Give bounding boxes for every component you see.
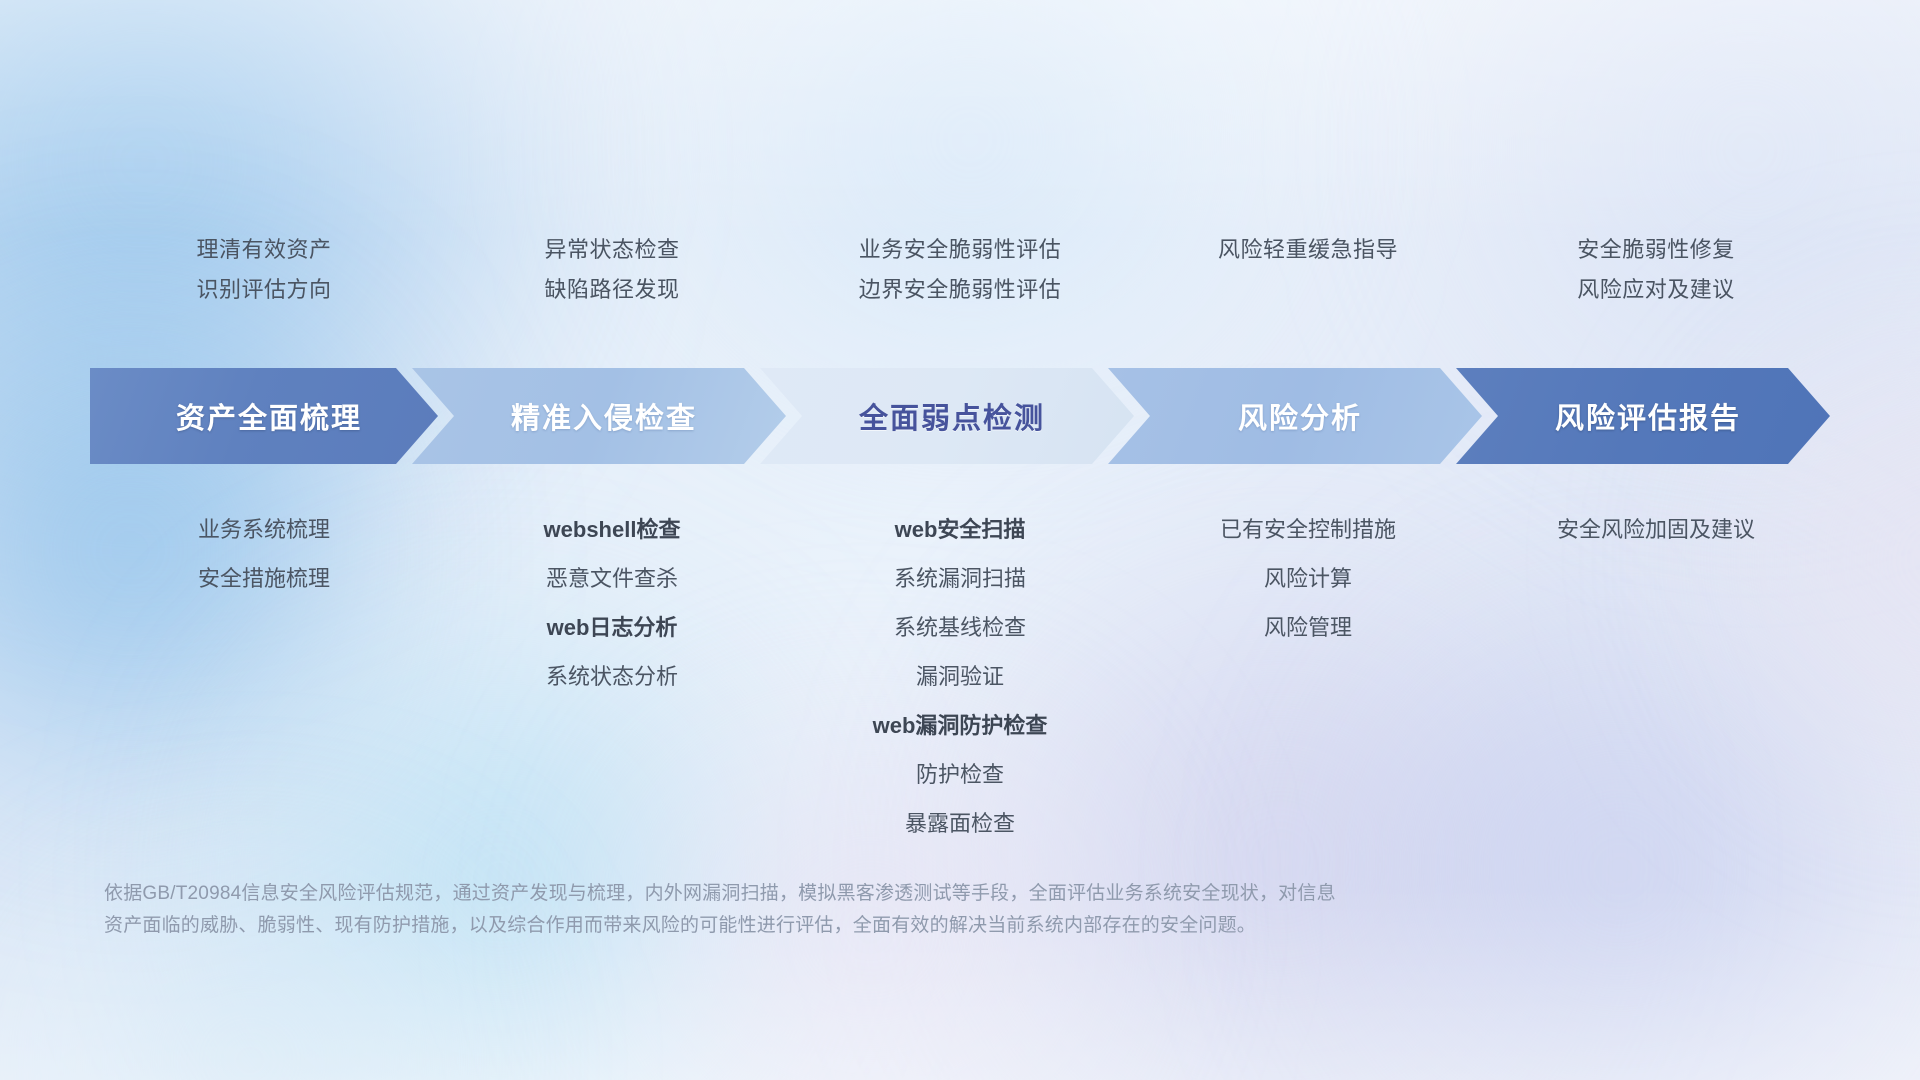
list-item: 系统漏洞扫描: [786, 554, 1134, 603]
bottom-items-risk-analysis: 已有安全控制措施 风险计算 风险管理: [1134, 505, 1482, 652]
list-item: 防护检查: [786, 750, 1134, 799]
chevron-stage-risk-analysis[interactable]: 风险分析: [1108, 368, 1482, 464]
chevron-label: 资产全面梳理: [90, 395, 438, 437]
top-note: 理清有效资产: [90, 230, 438, 270]
top-note: 风险应对及建议: [1482, 270, 1830, 310]
list-item: 已有安全控制措施: [1134, 505, 1482, 554]
list-item: webshell检查: [438, 505, 786, 554]
list-item: web日志分析: [438, 603, 786, 652]
bottom-items-row: 业务系统梳理 安全措施梳理 webshell检查 恶意文件查杀 web日志分析 …: [90, 505, 1830, 848]
top-notes-risk-analysis: 风险轻重缓急指导: [1134, 230, 1482, 310]
top-notes-row: 理清有效资产 识别评估方向 异常状态检查 缺陷路径发现 业务安全脆弱性评估 边界…: [90, 230, 1830, 310]
list-item: 暴露面检查: [786, 799, 1134, 848]
chevron-stage-intrusion-check[interactable]: 精准入侵检查: [412, 368, 786, 464]
top-note: 风险轻重缓急指导: [1134, 230, 1482, 270]
diagram-content: 理清有效资产 识别评估方向 异常状态检查 缺陷路径发现 业务安全脆弱性评估 边界…: [0, 0, 1920, 1080]
list-item: 漏洞验证: [786, 652, 1134, 701]
chevron-label: 精准入侵检查: [412, 395, 786, 437]
bottom-items-weakness-detection: web安全扫描 系统漏洞扫描 系统基线检查 漏洞验证 web漏洞防护检查 防护检…: [786, 505, 1134, 848]
top-note: 识别评估方向: [90, 270, 438, 310]
top-note: 异常状态检查: [438, 230, 786, 270]
footnote-line: 依据GB/T20984信息安全风险评估规范，通过资产发现与梳理，内外网漏洞扫描，…: [104, 878, 1604, 910]
list-item: web安全扫描: [786, 505, 1134, 554]
list-item: 系统基线检查: [786, 603, 1134, 652]
chevron-label: 风险分析: [1108, 395, 1482, 437]
top-note: 缺陷路径发现: [438, 270, 786, 310]
bottom-items-asset-inventory: 业务系统梳理 安全措施梳理: [90, 505, 438, 603]
chevron-label: 风险评估报告: [1456, 395, 1830, 437]
list-item: 系统状态分析: [438, 652, 786, 701]
top-notes-intrusion-check: 异常状态检查 缺陷路径发现: [438, 230, 786, 310]
chevron-stage-risk-report[interactable]: 风险评估报告: [1456, 368, 1830, 464]
top-note: 业务安全脆弱性评估: [786, 230, 1134, 270]
list-item: 风险计算: [1134, 554, 1482, 603]
list-item: 恶意文件查杀: [438, 554, 786, 603]
top-note: 安全脆弱性修复: [1482, 230, 1830, 270]
chevron-stage-asset-inventory[interactable]: 资产全面梳理: [90, 368, 438, 464]
bottom-items-risk-report: 安全风险加固及建议: [1482, 505, 1830, 554]
list-item: 风险管理: [1134, 603, 1482, 652]
list-item: web漏洞防护检查: [786, 701, 1134, 750]
list-item: 安全措施梳理: [90, 554, 438, 603]
chevron-label: 全面弱点检测: [760, 395, 1134, 437]
top-notes-asset-inventory: 理清有效资产 识别评估方向: [90, 230, 438, 310]
top-notes-risk-report: 安全脆弱性修复 风险应对及建议: [1482, 230, 1830, 310]
list-item: 安全风险加固及建议: [1482, 505, 1830, 554]
slide-canvas: 理清有效资产 识别评估方向 异常状态检查 缺陷路径发现 业务安全脆弱性评估 边界…: [0, 0, 1920, 1080]
list-item: 业务系统梳理: [90, 505, 438, 554]
top-notes-weakness-detection: 业务安全脆弱性评估 边界安全脆弱性评估: [786, 230, 1134, 310]
footnote: 依据GB/T20984信息安全风险评估规范，通过资产发现与梳理，内外网漏洞扫描，…: [104, 878, 1604, 942]
process-chevron-band: 资产全面梳理 精准入侵检查 全面弱点检测 风险分析 风险评估报告: [90, 368, 1830, 464]
top-note: 边界安全脆弱性评估: [786, 270, 1134, 310]
footnote-line: 资产面临的威胁、脆弱性、现有防护措施，以及综合作用而带来风险的可能性进行评估，全…: [104, 910, 1604, 942]
chevron-stage-weakness-detection[interactable]: 全面弱点检测: [760, 368, 1134, 464]
bottom-items-intrusion-check: webshell检查 恶意文件查杀 web日志分析 系统状态分析: [438, 505, 786, 701]
